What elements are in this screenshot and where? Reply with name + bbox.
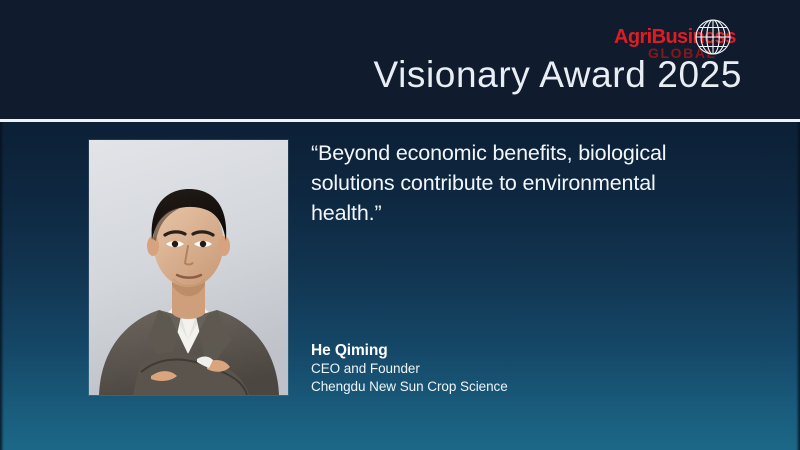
portrait-photo [89,140,288,395]
visionary-award-slide: AgriBusiness GLOBAL Visionary Award 202 [0,0,800,450]
header-divider [0,119,800,122]
slide-header: AgriBusiness GLOBAL Visionary Award 202 [0,0,800,119]
left-edge-vignette [0,122,4,450]
quote-text: “Beyond economic benefits, biological so… [311,138,671,228]
right-edge-vignette [796,122,800,450]
attribution-role: CEO and Founder [311,360,508,378]
page-title: Visionary Award 2025 [0,56,742,93]
attribution-organization: Chengdu New Sun Crop Science [311,378,508,396]
attribution-block: He Qiming CEO and Founder Chengdu New Su… [311,341,508,396]
attribution-name: He Qiming [311,341,508,360]
